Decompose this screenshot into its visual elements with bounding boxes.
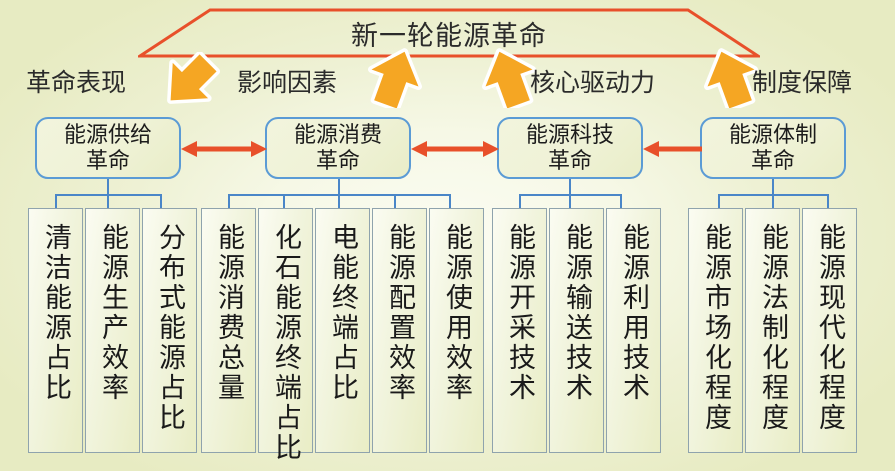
category-label-institutional-guarantee: 制度保障 xyxy=(752,63,852,99)
arrow-up-right-icon xyxy=(358,48,432,108)
connector-drop-4-1 xyxy=(718,194,720,209)
connector-drop-1-3 xyxy=(160,194,162,209)
leaf-label: 能源法制化程度 xyxy=(759,223,786,433)
relation-arrow-consumption-technology xyxy=(411,138,499,160)
leaf-label: 能源消费总量 xyxy=(215,223,242,403)
relation-arrow-system-technology xyxy=(643,138,702,160)
leaf-box-energy-extraction-technology[interactable]: 能源开采技术 xyxy=(492,208,547,453)
pillar-box-energy-consumption[interactable]: 能源消费 革命 xyxy=(265,117,411,179)
connector-drop-2-5 xyxy=(449,194,451,209)
leaf-box-distributed-energy-share[interactable]: 分布式能源占比 xyxy=(142,208,197,453)
pillar-box-energy-supply[interactable]: 能源供给 革命 xyxy=(35,117,181,179)
leaf-label: 能源利用技术 xyxy=(620,223,647,403)
leaf-label: 电能终端占比 xyxy=(329,223,356,403)
category-label-core-driving-force: 核心驱动力 xyxy=(530,63,655,99)
pillar-label-line1: 能源体制 xyxy=(729,122,817,148)
pillar-label-line1: 能源供给 xyxy=(64,122,152,148)
leaf-box-energy-allocation-efficiency[interactable]: 能源配置效率 xyxy=(372,208,427,453)
connector-drop-1-1 xyxy=(55,194,57,209)
pillar-label-line2: 革命 xyxy=(294,148,382,174)
pillar-label-line2: 革命 xyxy=(729,148,817,174)
leaf-box-energy-transmission-technology[interactable]: 能源输送技术 xyxy=(549,208,604,453)
pillar-label-line1: 能源消费 xyxy=(294,122,382,148)
pillar-label-line1: 能源科技 xyxy=(526,122,614,148)
leaf-label: 能源生产效率 xyxy=(99,223,126,403)
pillar-label-line2: 革命 xyxy=(64,148,152,174)
pillar-box-energy-system[interactable]: 能源体制 革命 xyxy=(700,117,846,179)
leaf-box-energy-modernization-degree[interactable]: 能源现代化程度 xyxy=(802,208,857,453)
connector-drop-2-3 xyxy=(338,194,340,209)
leaf-box-clean-energy-share[interactable]: 清洁能源占比 xyxy=(28,208,83,453)
connector-drop-3-3 xyxy=(620,194,622,209)
connector-drop-3-2 xyxy=(569,194,571,209)
leaf-label: 清洁能源占比 xyxy=(42,223,69,403)
pillar-label-line2: 革命 xyxy=(526,148,614,174)
connector-drop-2-2 xyxy=(283,194,285,209)
leaf-box-electric-terminal-share[interactable]: 电能终端占比 xyxy=(315,208,370,453)
arrow-down-left-icon xyxy=(152,52,226,112)
connector-drop-1-2 xyxy=(107,194,109,209)
connector-stem-2 xyxy=(338,179,340,195)
connector-stem-4 xyxy=(772,179,774,195)
leaf-label: 分布式能源占比 xyxy=(156,223,183,433)
connector-drop-4-3 xyxy=(827,194,829,209)
leaf-box-energy-production-efficiency[interactable]: 能源生产效率 xyxy=(85,208,140,453)
category-label-influencing-factors: 影响因素 xyxy=(237,63,337,99)
connector-drop-2-4 xyxy=(394,194,396,209)
connector-stem-3 xyxy=(569,179,571,195)
leaf-label: 能源配置效率 xyxy=(386,223,413,403)
leaf-label: 能源现代化程度 xyxy=(816,223,843,433)
connector-stem-1 xyxy=(107,179,109,195)
leaf-label: 能源市场化程度 xyxy=(702,223,729,433)
category-label-revolution-manifestation: 革命表现 xyxy=(26,63,126,99)
leaf-box-fossil-energy-terminal-share[interactable]: 化石能源终端占比 xyxy=(258,208,313,453)
leaf-box-energy-use-efficiency[interactable]: 能源使用效率 xyxy=(429,208,484,453)
leaf-box-energy-legalization-degree[interactable]: 能源法制化程度 xyxy=(745,208,800,453)
connector-drop-3-1 xyxy=(519,194,521,209)
leaf-box-energy-utilization-technology[interactable]: 能源利用技术 xyxy=(606,208,661,453)
leaf-box-energy-marketization-degree[interactable]: 能源市场化程度 xyxy=(688,208,743,453)
pillar-box-energy-technology[interactable]: 能源科技 革命 xyxy=(497,117,643,179)
leaf-label: 能源使用效率 xyxy=(443,223,470,403)
leaf-box-total-energy-consumption[interactable]: 能源消费总量 xyxy=(201,208,256,453)
page-title: 新一轮能源革命 xyxy=(138,8,760,58)
leaf-label: 能源开采技术 xyxy=(506,223,533,403)
connector-drop-4-2 xyxy=(772,194,774,209)
leaf-label: 化石能源终端占比 xyxy=(272,223,299,463)
diagram-canvas: 新一轮能源革命 革命表现 影响因素 核心驱动力 制度保障 能源供给 革命 xyxy=(0,0,895,471)
relation-arrow-supply-consumption xyxy=(181,138,267,160)
connector-drop-2-1 xyxy=(228,194,230,209)
leaf-label: 能源输送技术 xyxy=(563,223,590,403)
